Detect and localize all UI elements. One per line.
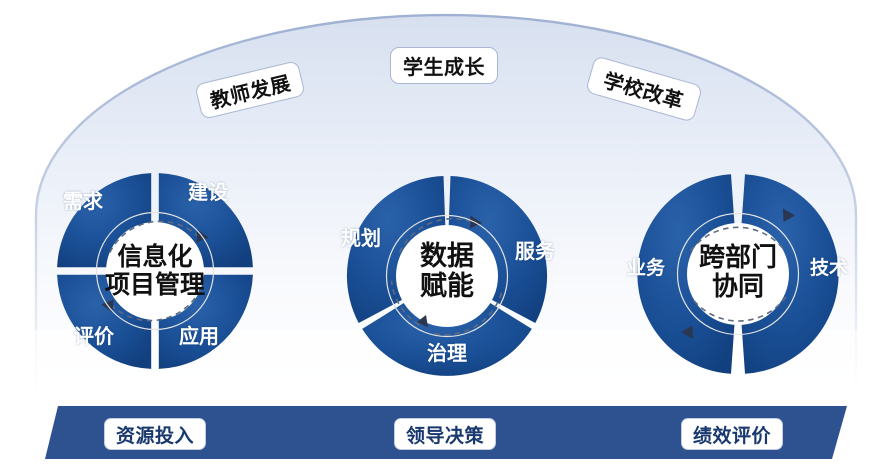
dome-label-student-growth[interactable]: 学生成长 [390,47,498,84]
ring-data-empowerment[interactable] [327,165,567,387]
banner-label-leadership-decision[interactable]: 领导决策 [394,418,496,450]
banner-label-performance-evaluation[interactable]: 绩效评价 [681,418,783,450]
diagram-canvas: 教师发展 学生成长 学校改革 [0,0,891,472]
ring-cross-department-collaboration[interactable] [620,166,856,382]
ring-inner-disc [396,225,498,327]
ring-informatization-project-management[interactable] [47,163,263,379]
banner-label-resource-input[interactable]: 资源投入 [104,418,206,450]
ring-inner-disc [687,223,789,325]
ring-inner-disc [106,222,204,320]
